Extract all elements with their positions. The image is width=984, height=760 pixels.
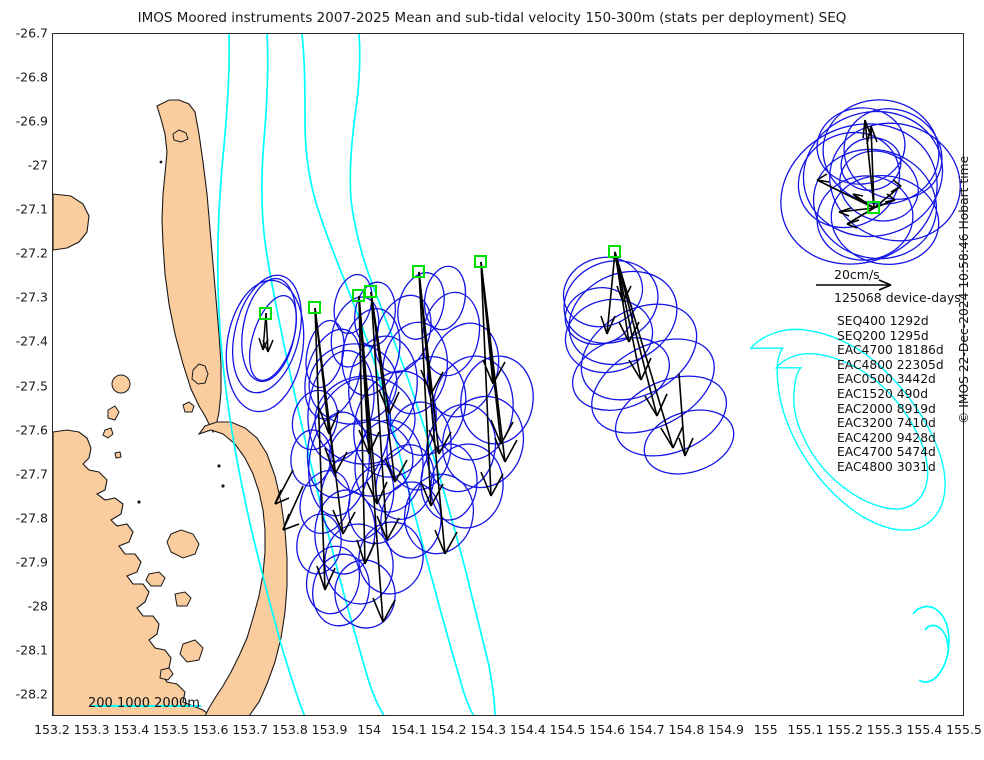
y-axis-tick-label: -27 [2,158,48,173]
y-axis-tick [52,34,53,35]
x-axis-tick [608,715,609,716]
legend-entry: EAC0500 3442d [837,372,944,387]
y-axis-tick-label: -27.6 [2,422,48,437]
x-axis-tick-label: 153.5 [153,722,189,737]
device-days-label: 125068 device-days [834,290,961,305]
legend-entry: EAC4200 9428d [837,431,944,446]
x-axis-tick-label: 155.4 [906,722,942,737]
x-axis-tick [251,715,252,716]
y-axis-tick-label: -27.5 [2,378,48,393]
velocity-scale-label: 20cm/s [834,267,880,282]
x-axis-tick-label: 154 [357,722,381,737]
copyright-notice: © IMOS 22-Dec-2024 10:58:46 Hobart time [957,156,971,424]
x-axis-tick-label: 155.3 [867,722,903,737]
y-axis-tick [52,607,53,608]
x-axis-tick-label: 155.1 [787,722,823,737]
map-canvas [53,34,964,716]
x-axis-tick [727,715,728,716]
map-figure: IMOS Moored instruments 2007-2025 Mean a… [0,0,984,760]
y-axis-tick-label: -27.9 [2,554,48,569]
y-axis-tick-label: -27.8 [2,510,48,525]
legend-entry: SEQ200 1295d [837,329,944,344]
x-axis-tick-label: 154.6 [589,722,625,737]
y-axis-tick-label: -28.2 [2,686,48,701]
y-axis-tick [52,298,53,299]
x-axis-tick [489,715,490,716]
x-axis-tick-label: 153.3 [74,722,110,737]
page-title: IMOS Moored instruments 2007-2025 Mean a… [0,10,984,26]
x-axis-tick [767,715,768,716]
x-axis-tick [172,715,173,716]
x-axis-tick-label: 154.8 [669,722,705,737]
y-axis-tick-label: -27.3 [2,290,48,305]
x-axis-tick-label: 153.7 [232,722,268,737]
x-axis-tick [846,715,847,716]
x-axis-tick [331,715,332,716]
y-axis-tick [52,695,53,696]
land-polygons [53,100,287,716]
legend-entry: EAC4700 18186d [837,343,944,358]
x-axis-tick-label: 154.9 [708,722,744,737]
x-axis-tick-label: 153.6 [193,722,229,737]
y-axis-tick [52,342,53,343]
x-axis-tick-label: 153.2 [34,722,70,737]
x-axis-tick-label: 153.8 [272,722,308,737]
legend-entry: EAC1520 490d [837,387,944,402]
x-axis-tick [568,715,569,716]
x-axis-tick [291,715,292,716]
y-axis-tick [52,387,53,388]
x-axis-tick-label: 155 [754,722,778,737]
x-axis-tick [687,715,688,716]
y-axis-tick [52,122,53,123]
y-axis-tick [52,78,53,79]
x-axis-tick [925,715,926,716]
y-axis-tick [52,519,53,520]
legend-entry: EAC4800 22305d [837,358,944,373]
y-axis-tick-label: -26.9 [2,114,48,129]
x-axis-tick-label: 154.4 [510,722,546,737]
y-axis-tick [52,431,53,432]
x-axis-tick [132,715,133,716]
station-cluster-central [275,262,539,632]
x-axis-tick [53,715,54,716]
x-axis-tick-label: 153.9 [312,722,348,737]
station-cluster-eac3200 [552,247,743,485]
x-axis-tick [93,715,94,716]
y-axis-tick-label: -27.2 [2,246,48,261]
x-axis-tick-label: 155.2 [827,722,863,737]
y-axis-tick [52,254,53,255]
x-axis-tick [410,715,411,716]
station-legend: SEQ400 1292dSEQ200 1295dEAC4700 18186dEA… [837,314,944,475]
legend-entry: EAC3200 7410d [837,416,944,431]
y-axis-tick-label: -27.4 [2,334,48,349]
legend-entry: EAC2000 8919d [837,402,944,417]
y-axis-tick-label: -26.8 [2,70,48,85]
x-axis-tick-label: 154.2 [431,722,467,737]
station-cluster-seq400 [218,268,312,417]
contour-depth-key: 200 1000 2000m [88,696,200,711]
y-axis-tick-label: -27.1 [2,202,48,217]
legend-entry: EAC4700 5474d [837,445,944,460]
y-axis-tick-label: -26.7 [2,26,48,41]
x-axis-tick-label: 154.3 [470,722,506,737]
x-axis-tick-label: 155.5 [946,722,982,737]
station-markers [260,202,879,319]
legend-entry: SEQ400 1292d [837,314,944,329]
station-cluster-eac4200 [758,92,964,288]
x-axis-tick-label: 154.1 [391,722,427,737]
x-axis-tick-label: 154.7 [629,722,665,737]
x-axis-tick [450,715,451,716]
y-axis-tick [52,210,53,211]
y-axis-tick-label: -28.1 [2,642,48,657]
y-axis-tick [52,651,53,652]
legend-entry: EAC4800 3031d [837,460,944,475]
x-axis-tick [648,715,649,716]
x-axis-tick-label: 154.5 [550,722,586,737]
x-axis-tick [370,715,371,716]
x-axis-tick-label: 153.4 [113,722,149,737]
y-axis-tick [52,475,53,476]
y-axis-tick-label: -27.7 [2,466,48,481]
y-axis-tick [52,563,53,564]
x-axis-tick [886,715,887,716]
x-axis-tick [529,715,530,716]
y-axis-tick [52,166,53,167]
x-axis-tick [806,715,807,716]
x-axis-tick [212,715,213,716]
map-plot-area [52,33,964,716]
y-axis-tick-label: -28 [2,598,48,613]
